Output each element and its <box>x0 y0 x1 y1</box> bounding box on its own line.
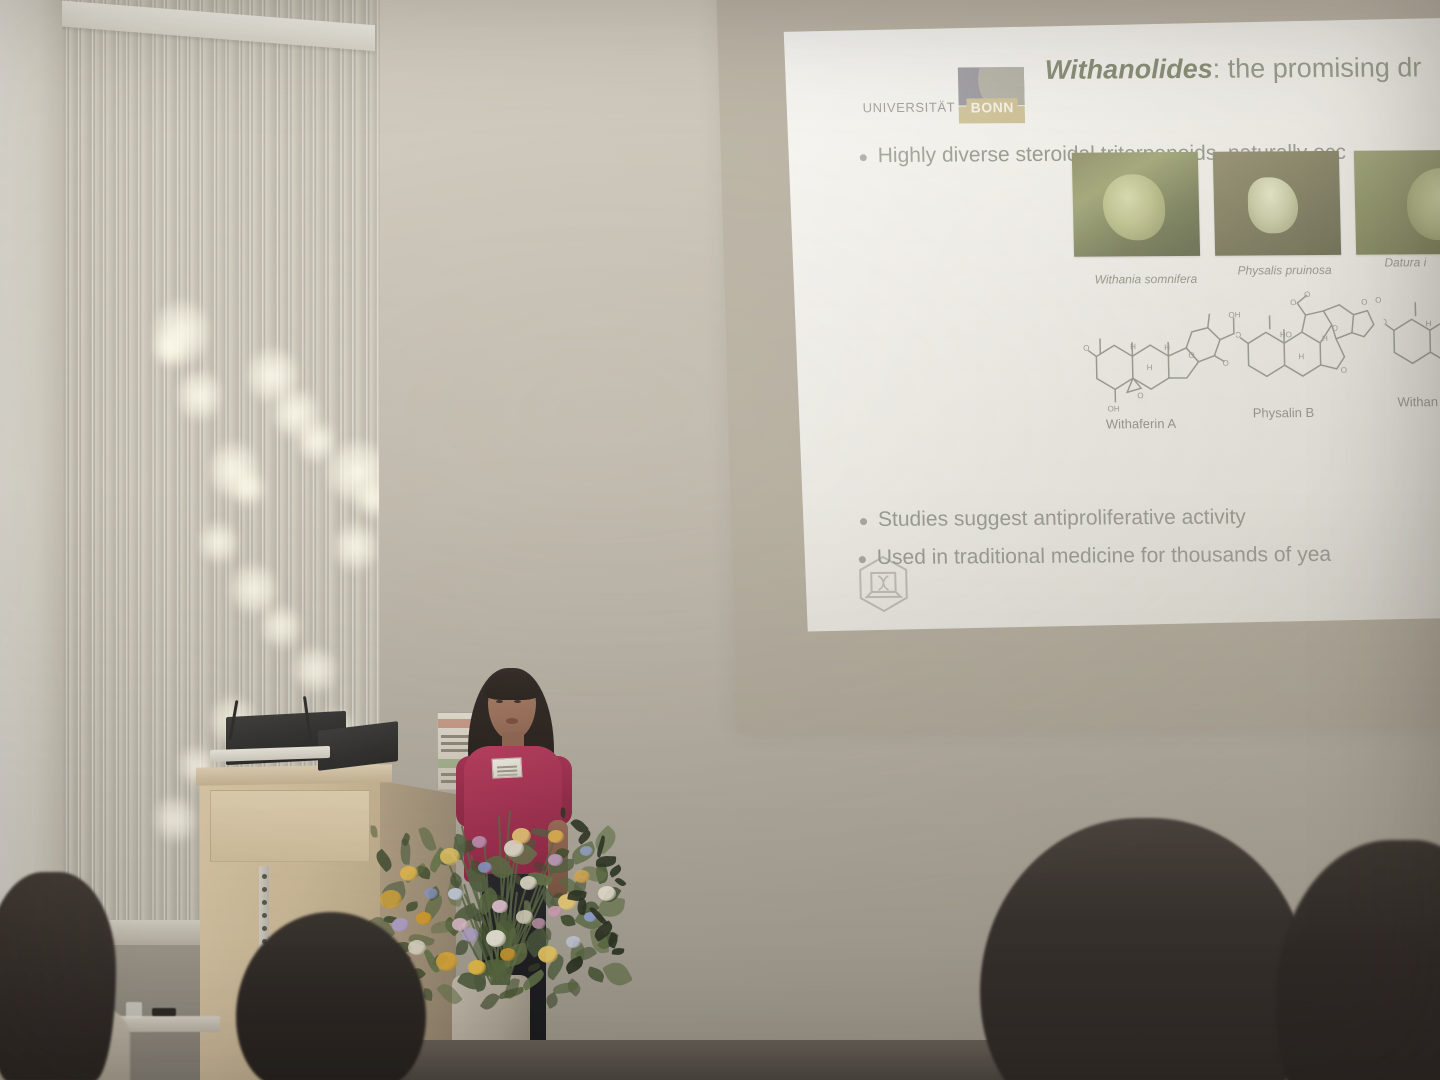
bouquet-blossom <box>478 862 492 873</box>
svg-text:O: O <box>1332 324 1338 333</box>
blind-slat <box>155 0 165 955</box>
blind-slat <box>94 0 104 953</box>
svg-text:O: O <box>1375 296 1381 305</box>
chemical-structure-withaferin-a: O OH O H H H OH O O <box>1081 292 1244 423</box>
bouquet-blossom <box>580 846 593 856</box>
bouquet-foliage <box>480 990 501 1012</box>
bouquet-blossom <box>472 836 487 848</box>
svg-text:O: O <box>1304 290 1310 299</box>
bouquet-blossom <box>452 918 468 931</box>
bouquet-blossom <box>416 912 432 925</box>
bouquet-foliage <box>456 940 469 955</box>
slide-title: Withanolides: the promising dr <box>1045 51 1440 86</box>
plant-caption-3: Datura i <box>1384 255 1426 269</box>
speaker-eye-left <box>496 700 503 703</box>
svg-text:O: O <box>1235 331 1241 340</box>
bouquet-blossom <box>574 870 590 883</box>
podium-strip-hole <box>262 874 267 879</box>
bouquet-foliage <box>418 825 437 852</box>
svg-text:H: H <box>1164 343 1170 352</box>
bouquet-blossom <box>408 940 426 955</box>
bouquet-blossom <box>548 854 563 866</box>
bouquet-blossom <box>392 918 409 932</box>
bouquet-blossom <box>448 888 463 900</box>
water-glass <box>126 1002 142 1018</box>
svg-text:HO: HO <box>1280 330 1292 339</box>
svg-text:O: O <box>1290 298 1296 307</box>
bouquet-foliage <box>405 901 418 912</box>
svg-text:O: O <box>1083 344 1089 353</box>
bouquet-foliage <box>373 849 396 873</box>
bouquet-foliage <box>436 980 463 1008</box>
chemical-structure-withanolide: O H H H <box>1383 270 1440 401</box>
podium-strip-hole <box>262 887 267 892</box>
bullet-dot-icon <box>860 154 867 161</box>
university-bonn-logo: UNIVERSITÄT BONN <box>862 67 1031 130</box>
blind-slat <box>166 0 178 955</box>
window-frame <box>0 0 62 940</box>
bouquet-dark-sprig <box>560 807 567 818</box>
podium-strip-hole <box>262 913 267 918</box>
svg-text:H: H <box>1130 342 1136 351</box>
svg-text:H: H <box>1426 319 1432 328</box>
bouquet-blossom <box>462 928 479 942</box>
logo-bonn-text: BONN <box>966 98 1018 116</box>
blind-slat <box>118 0 127 955</box>
audience-member-far-left <box>0 872 116 1080</box>
svg-text:O: O <box>1383 318 1388 327</box>
bouquet-blossom <box>532 918 546 929</box>
slide-bullet-3-text: Used in traditional medicine for thousan… <box>877 543 1332 570</box>
bouquet-dark-sprig <box>596 856 616 868</box>
bouquet-blossom <box>468 960 486 975</box>
projection-screen: UNIVERSITÄT BONN Withanolides: the promi… <box>716 0 1440 734</box>
plant-caption-1: Withania somnifera <box>1094 272 1197 287</box>
plant-photo-physalis <box>1213 151 1341 256</box>
chemical-caption-3: Withan <box>1397 394 1438 409</box>
bouquet-blossom <box>436 952 458 971</box>
slide-bullet-3: Used in traditional medicine for thousan… <box>859 543 1332 570</box>
blind-slat <box>105 0 117 954</box>
blind-slat <box>128 0 139 955</box>
chemical-structure-physalin-b: O O O O O HO H H O O <box>1235 281 1388 412</box>
slide-bullet-2: Studies suggest antiproliferative activi… <box>860 505 1246 532</box>
lecture-hall-photo: UNIVERSITÄT BONN Withanolides: the promi… <box>0 0 1440 1080</box>
bouquet-blossom <box>486 930 506 947</box>
svg-text:O: O <box>1341 366 1347 375</box>
speaker-mouth <box>506 718 518 724</box>
presentation-slide: UNIVERSITÄT BONN Withanolides: the promi… <box>784 17 1440 632</box>
hexagon-laptop-dna-icon <box>853 554 914 614</box>
bouquet-dark-sprig <box>608 864 623 878</box>
blind-slat <box>68 0 79 951</box>
bouquet-blossom <box>598 886 616 901</box>
bouquet-blossom <box>516 910 533 924</box>
logo-universitaet-text: UNIVERSITÄT <box>862 100 955 116</box>
podium-strip-hole <box>262 900 267 905</box>
svg-text:H: H <box>1298 352 1304 361</box>
bouquet-blossom <box>380 890 402 909</box>
slide-title-emphasis: Withanolides <box>1045 54 1213 85</box>
bouquet-blossom <box>440 848 460 865</box>
floor <box>370 1040 1010 1080</box>
bouquet-blossom <box>512 828 531 844</box>
bouquet-blossom <box>424 888 438 899</box>
slide-bullet-2-text: Studies suggest antiproliferative activi… <box>878 505 1246 532</box>
bouquet-blossom <box>500 948 516 961</box>
bouquet-blossom <box>520 876 537 890</box>
blind-slat <box>189 0 200 955</box>
plant-photo-strip <box>1072 150 1440 257</box>
chemical-caption-2: Physalin B <box>1253 405 1315 420</box>
svg-text:H: H <box>1322 334 1328 343</box>
svg-text:H: H <box>1147 363 1153 372</box>
svg-text:O: O <box>1188 351 1194 360</box>
bouquet-blossom <box>492 900 508 913</box>
bouquet-blossom <box>548 830 564 843</box>
bullet-dot-icon <box>860 518 867 525</box>
chemical-caption-1: Withaferin A <box>1106 416 1176 431</box>
bouquet-foliage <box>371 826 378 838</box>
blind-slat <box>179 0 188 955</box>
svg-text:OH: OH <box>1107 404 1119 413</box>
plant-caption-2: Physalis pruinosa <box>1237 263 1331 278</box>
blind-slat <box>140 0 153 955</box>
bouquet-foliage <box>520 969 546 991</box>
svg-text:O: O <box>1222 359 1228 368</box>
podium-front-panel <box>210 790 370 862</box>
phone-on-desk <box>152 1008 176 1016</box>
speaker-eye-right <box>514 700 521 703</box>
svg-text:O: O <box>1137 391 1143 400</box>
plant-photo-withania <box>1072 152 1200 257</box>
bouquet-foliage <box>560 913 576 928</box>
podium-strip-hole <box>262 926 267 931</box>
blind-slat <box>80 0 93 952</box>
slide-title-rest: : the promising dr <box>1212 52 1421 83</box>
bouquet-blossom <box>566 936 581 948</box>
bouquet-foliage <box>544 992 561 1009</box>
bouquet-blossom <box>538 946 558 963</box>
bouquet-foliage <box>400 833 412 847</box>
svg-text:O: O <box>1361 298 1367 307</box>
bouquet-blossom <box>548 906 562 917</box>
bouquet-blossom <box>400 866 418 881</box>
plant-photo-datura <box>1354 150 1440 255</box>
